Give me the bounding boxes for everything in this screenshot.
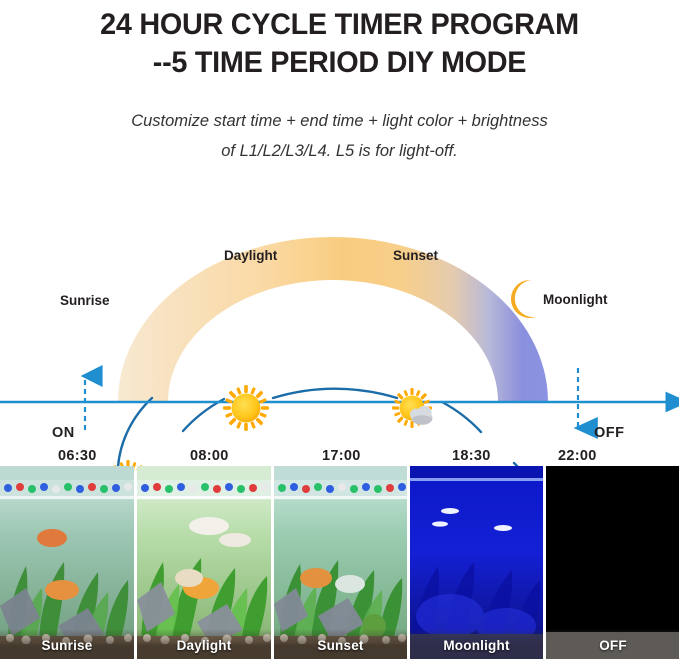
photo-panel-daylight[interactable]: Daylight <box>137 466 271 659</box>
on-label: ON <box>52 425 75 441</box>
page-title-line-2: --5 TIME PERIOD DIY MODE <box>14 44 666 82</box>
photo-panel-moonlight[interactable]: Moonlight <box>410 466 543 659</box>
off-label: OFF <box>594 425 625 441</box>
day-cycle-arc <box>118 237 548 402</box>
time-label-1830: 18:30 <box>452 448 491 464</box>
diagram-canvas <box>0 180 679 470</box>
aquarium-photo-strip: Sunrise <box>0 466 679 659</box>
photo-panel-sunrise[interactable]: Sunrise <box>0 466 134 659</box>
photo-label-sunset: Sunset <box>274 638 407 653</box>
day-cycle-diagram: Sunrise Daylight Sunset Moonlight ON OFF… <box>0 180 679 470</box>
page-title-line-1: 24 HOUR CYCLE TIMER PROGRAM <box>14 0 666 44</box>
guide-arc-sunrise-to-daylight <box>118 398 152 467</box>
photo-label-daylight: Daylight <box>137 638 271 653</box>
photo-label-off: OFF <box>546 638 679 653</box>
time-label-0630: 06:30 <box>58 448 97 464</box>
sun-icon <box>213 375 278 440</box>
header-titles: 24 HOUR CYCLE TIMER PROGRAM --5 TIME PER… <box>0 0 679 166</box>
time-label-1700: 17:00 <box>322 448 361 464</box>
sun-cloud-icon <box>384 380 441 437</box>
photo-panel-sunset[interactable]: Sunset <box>274 466 407 659</box>
phase-label-moonlight: Moonlight <box>543 292 607 307</box>
phase-label-sunset: Sunset <box>393 248 438 263</box>
page-subtitle-line-1: Customize start time + end time + light … <box>10 106 669 136</box>
phase-label-sunrise: Sunrise <box>60 293 110 308</box>
phase-label-daylight: Daylight <box>224 248 277 263</box>
page-subtitle: Customize start time + end time + light … <box>0 106 679 166</box>
time-label-0800: 08:00 <box>190 448 229 464</box>
guide-arc-daylight-to-sunset <box>273 389 397 398</box>
photo-label-moonlight: Moonlight <box>410 638 543 653</box>
page-subtitle-line-2: of L1/L2/L3/L4. L5 is for light-off. <box>10 136 669 166</box>
guide-arc-sunset-to-moonlight <box>442 402 481 432</box>
photo-panel-off[interactable]: OFF <box>546 466 679 659</box>
photo-label-sunrise: Sunrise <box>0 638 134 653</box>
crescent-moon-icon <box>511 280 536 318</box>
time-label-2200: 22:00 <box>558 448 597 464</box>
